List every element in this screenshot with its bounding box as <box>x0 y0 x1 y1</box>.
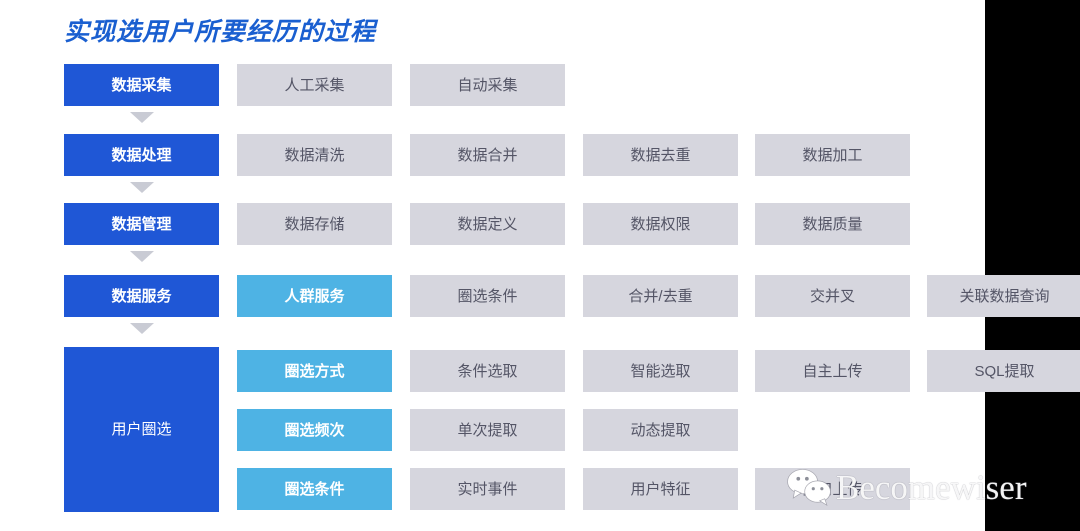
item-box-manual-collect[interactable]: 人工采集 <box>237 64 392 106</box>
item-box-auto-collect[interactable]: 自动采集 <box>410 64 565 106</box>
item-box-selection-method[interactable]: 圈选方式 <box>237 350 392 392</box>
item-box-data-permission[interactable]: 数据权限 <box>583 203 738 245</box>
stage-box-user-selection[interactable]: 用户圈选 <box>64 347 219 512</box>
flow-arrow-down-icon-2 <box>130 182 154 193</box>
slide-canvas: 实现选用户所要经历的过程 数据采集 人工采集 自动采集 数据处理 数据清洗 数据… <box>0 0 1080 531</box>
stage-box-service[interactable]: 数据服务 <box>64 275 219 317</box>
item-box-data-merge[interactable]: 数据合并 <box>410 134 565 176</box>
item-box-self-upload[interactable]: 自主上传 <box>755 350 910 392</box>
item-box-api-upload[interactable]: 接口上传 <box>755 468 910 510</box>
item-box-smart-pick[interactable]: 智能选取 <box>583 350 738 392</box>
item-box-related-data-query[interactable]: 关联数据查询 <box>927 275 1080 317</box>
item-box-selection-frequency[interactable]: 圈选频次 <box>237 409 392 451</box>
flow-arrow-down-icon-1 <box>130 112 154 123</box>
item-box-data-storage[interactable]: 数据存储 <box>237 203 392 245</box>
item-box-merge-dedup[interactable]: 合并/去重 <box>583 275 738 317</box>
page-title: 实现选用户所要经历的过程 <box>64 12 376 48</box>
item-box-data-quality[interactable]: 数据质量 <box>755 203 910 245</box>
item-box-selection-condition[interactable]: 圈选条件 <box>410 275 565 317</box>
item-box-selection-condition-2[interactable]: 圈选条件 <box>237 468 392 510</box>
item-box-sql-extract[interactable]: SQL提取 <box>927 350 1080 392</box>
item-box-data-clean[interactable]: 数据清洗 <box>237 134 392 176</box>
flow-arrow-down-icon-3 <box>130 251 154 262</box>
item-box-user-feature[interactable]: 用户特征 <box>583 468 738 510</box>
item-box-data-definition[interactable]: 数据定义 <box>410 203 565 245</box>
right-black-band <box>985 0 1080 531</box>
item-box-dynamic-extract[interactable]: 动态提取 <box>583 409 738 451</box>
stage-box-collect[interactable]: 数据采集 <box>64 64 219 106</box>
item-box-audience-service[interactable]: 人群服务 <box>237 275 392 317</box>
item-box-intersect-union[interactable]: 交并叉 <box>755 275 910 317</box>
stage-box-process[interactable]: 数据处理 <box>64 134 219 176</box>
item-box-realtime-event[interactable]: 实时事件 <box>410 468 565 510</box>
stage-box-manage[interactable]: 数据管理 <box>64 203 219 245</box>
item-box-data-enrich[interactable]: 数据加工 <box>755 134 910 176</box>
item-box-single-extract[interactable]: 单次提取 <box>410 409 565 451</box>
item-box-condition-pick[interactable]: 条件选取 <box>410 350 565 392</box>
flow-arrow-down-icon-4 <box>130 323 154 334</box>
item-box-data-dedup[interactable]: 数据去重 <box>583 134 738 176</box>
